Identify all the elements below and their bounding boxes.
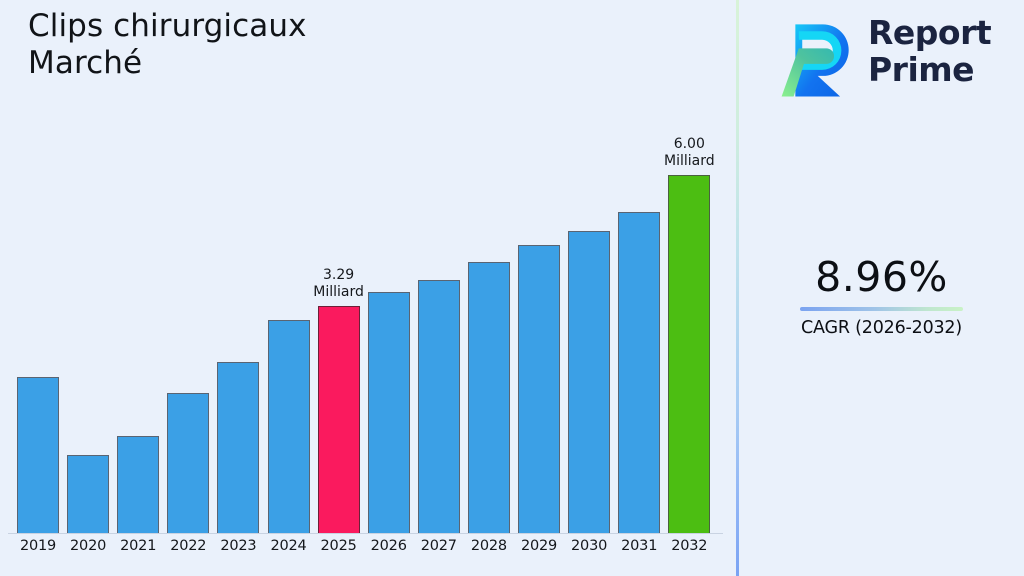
cagr-value: 8.96%	[739, 253, 1024, 301]
x-axis-label-2031: 2031	[614, 538, 664, 554]
bar-2026	[368, 292, 410, 533]
x-axis-label-2020: 2020	[63, 538, 113, 554]
bar-chart: 20192020202120222023202420253.29 Milliar…	[0, 0, 737, 576]
brand-panel: Report Prime 8.96% CAGR (2026-2032)	[739, 0, 1024, 576]
bar-2031	[618, 212, 660, 533]
brand-logo: Report Prime	[773, 10, 1018, 102]
bar-2024	[268, 320, 310, 533]
x-axis-label-2022: 2022	[163, 538, 213, 554]
cagr-block: 8.96% CAGR (2026-2032)	[739, 253, 1024, 339]
cagr-label: CAGR (2026-2032)	[739, 317, 1024, 339]
x-axis-label-2023: 2023	[213, 538, 263, 554]
bar-2027	[418, 280, 460, 533]
bar-2028	[468, 262, 510, 533]
infographic-root: Clips chirurgicaux Marché 20192020202120…	[0, 0, 1024, 576]
report-prime-logo-icon	[773, 14, 859, 100]
x-axis-label-2032: 2032	[664, 538, 714, 554]
bar-2021	[117, 436, 159, 533]
chart-panel: Clips chirurgicaux Marché 20192020202120…	[0, 0, 737, 576]
bar-2019	[17, 377, 59, 533]
x-axis-label-2024: 2024	[264, 538, 314, 554]
bar-2020	[67, 455, 109, 533]
x-axis-label-2021: 2021	[113, 538, 163, 554]
bar-2025	[318, 306, 360, 533]
x-axis-label-2029: 2029	[514, 538, 564, 554]
bar-2022	[167, 393, 209, 533]
x-axis-label-2028: 2028	[464, 538, 514, 554]
x-axis-label-2030: 2030	[564, 538, 614, 554]
bar-2023	[217, 362, 259, 533]
bar-2030	[568, 231, 610, 533]
bar-2032	[668, 175, 710, 533]
bar-2029	[518, 245, 560, 533]
x-axis-label-2027: 2027	[414, 538, 464, 554]
brand-name: Report Prime	[868, 14, 991, 88]
bar-value-label-2032: 6.00 Milliard	[639, 136, 739, 170]
cagr-divider-rule	[800, 307, 963, 311]
x-axis-line	[8, 533, 723, 534]
x-axis-label-2025: 2025	[314, 538, 364, 554]
x-axis-label-2019: 2019	[13, 538, 63, 554]
x-axis-label-2026: 2026	[364, 538, 414, 554]
